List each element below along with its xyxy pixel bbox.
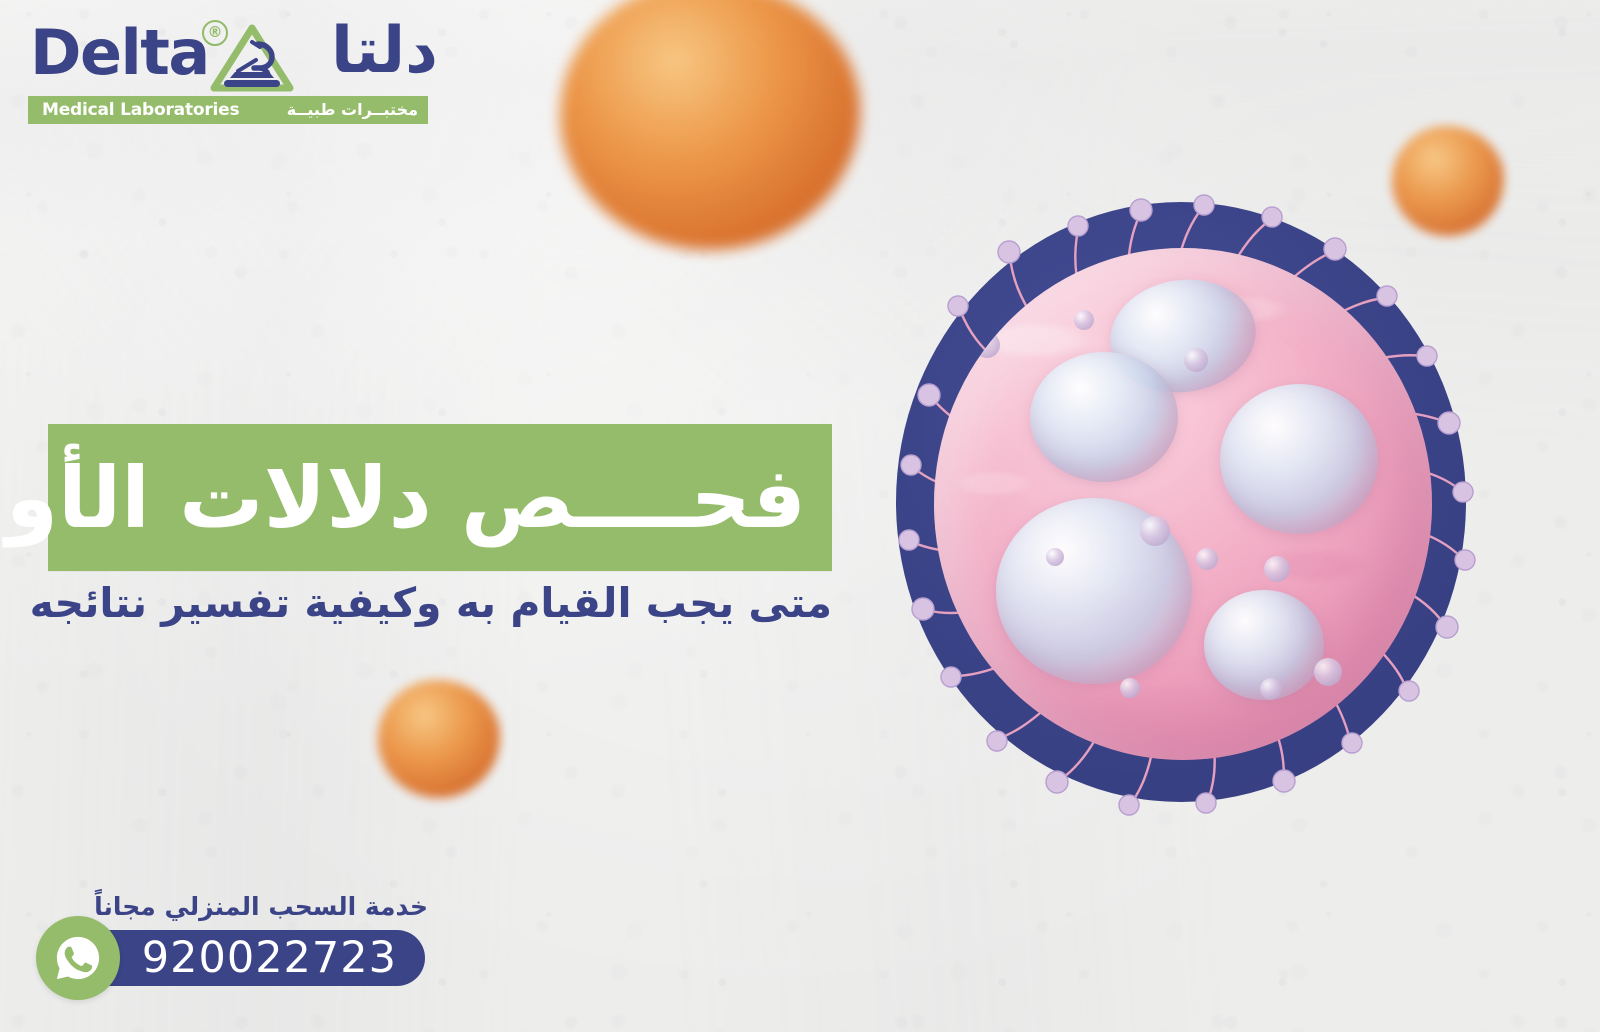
- brand-logo[interactable]: Delta ® دلتا Medical Laboratories مختبــ…: [28, 16, 438, 128]
- orange-cell-left: [378, 680, 500, 798]
- cell-membrane: [934, 248, 1432, 760]
- page-subtitle: متى يجب القيام به وكيفية تفسير نتائجه: [40, 578, 832, 629]
- cell-nodule: [1184, 348, 1208, 372]
- page-title: فحــــص دلالات الأورام: [0, 456, 832, 540]
- whatsapp-icon[interactable]: [36, 916, 120, 1000]
- cell-nucleus-vesicle: [1030, 352, 1178, 482]
- orange-cell-left-texture: [378, 680, 500, 798]
- logo-name-en: Delta: [30, 14, 209, 92]
- poster-canvas: Delta ® دلتا Medical Laboratories مختبــ…: [0, 0, 1600, 1032]
- cell-nodule: [1074, 310, 1094, 330]
- cell-nodule: [1046, 548, 1064, 566]
- tumor-cell-illustration: [860, 190, 1500, 840]
- cell-nodule: [1264, 556, 1290, 582]
- cell-nucleus-vesicle: [1220, 384, 1378, 534]
- cell-nodule: [1314, 658, 1342, 686]
- cell-nodule: [974, 332, 1000, 358]
- logo-tagline-bar: Medical Laboratories مختبــرات طبيــة: [28, 96, 428, 124]
- cell-nodule: [1120, 678, 1140, 698]
- cell-nodule: [1140, 516, 1170, 546]
- phone-badge[interactable]: 920022723: [75, 930, 425, 986]
- microscope-triangle-icon: ®: [208, 22, 296, 94]
- cell-nodule: [1196, 548, 1218, 570]
- headline-banner: فحــــص دلالات الأورام: [48, 424, 832, 571]
- logo-tagline-en: Medical Laboratories: [42, 96, 239, 124]
- home-service-caption: خدمة السحب المنزلي مجاناً: [94, 890, 428, 924]
- contact-block: خدمة السحب المنزلي مجاناً 920022723: [30, 890, 450, 1000]
- logo-name-ar: دلتا: [331, 10, 438, 92]
- phone-number: 920022723: [142, 930, 397, 986]
- registered-mark-icon: ®: [202, 20, 228, 46]
- cell-nodule: [1260, 678, 1282, 700]
- logo-tagline-ar: مختبــرات طبيــة: [287, 96, 418, 124]
- logo-wordmark-row: Delta ® دلتا: [28, 16, 438, 94]
